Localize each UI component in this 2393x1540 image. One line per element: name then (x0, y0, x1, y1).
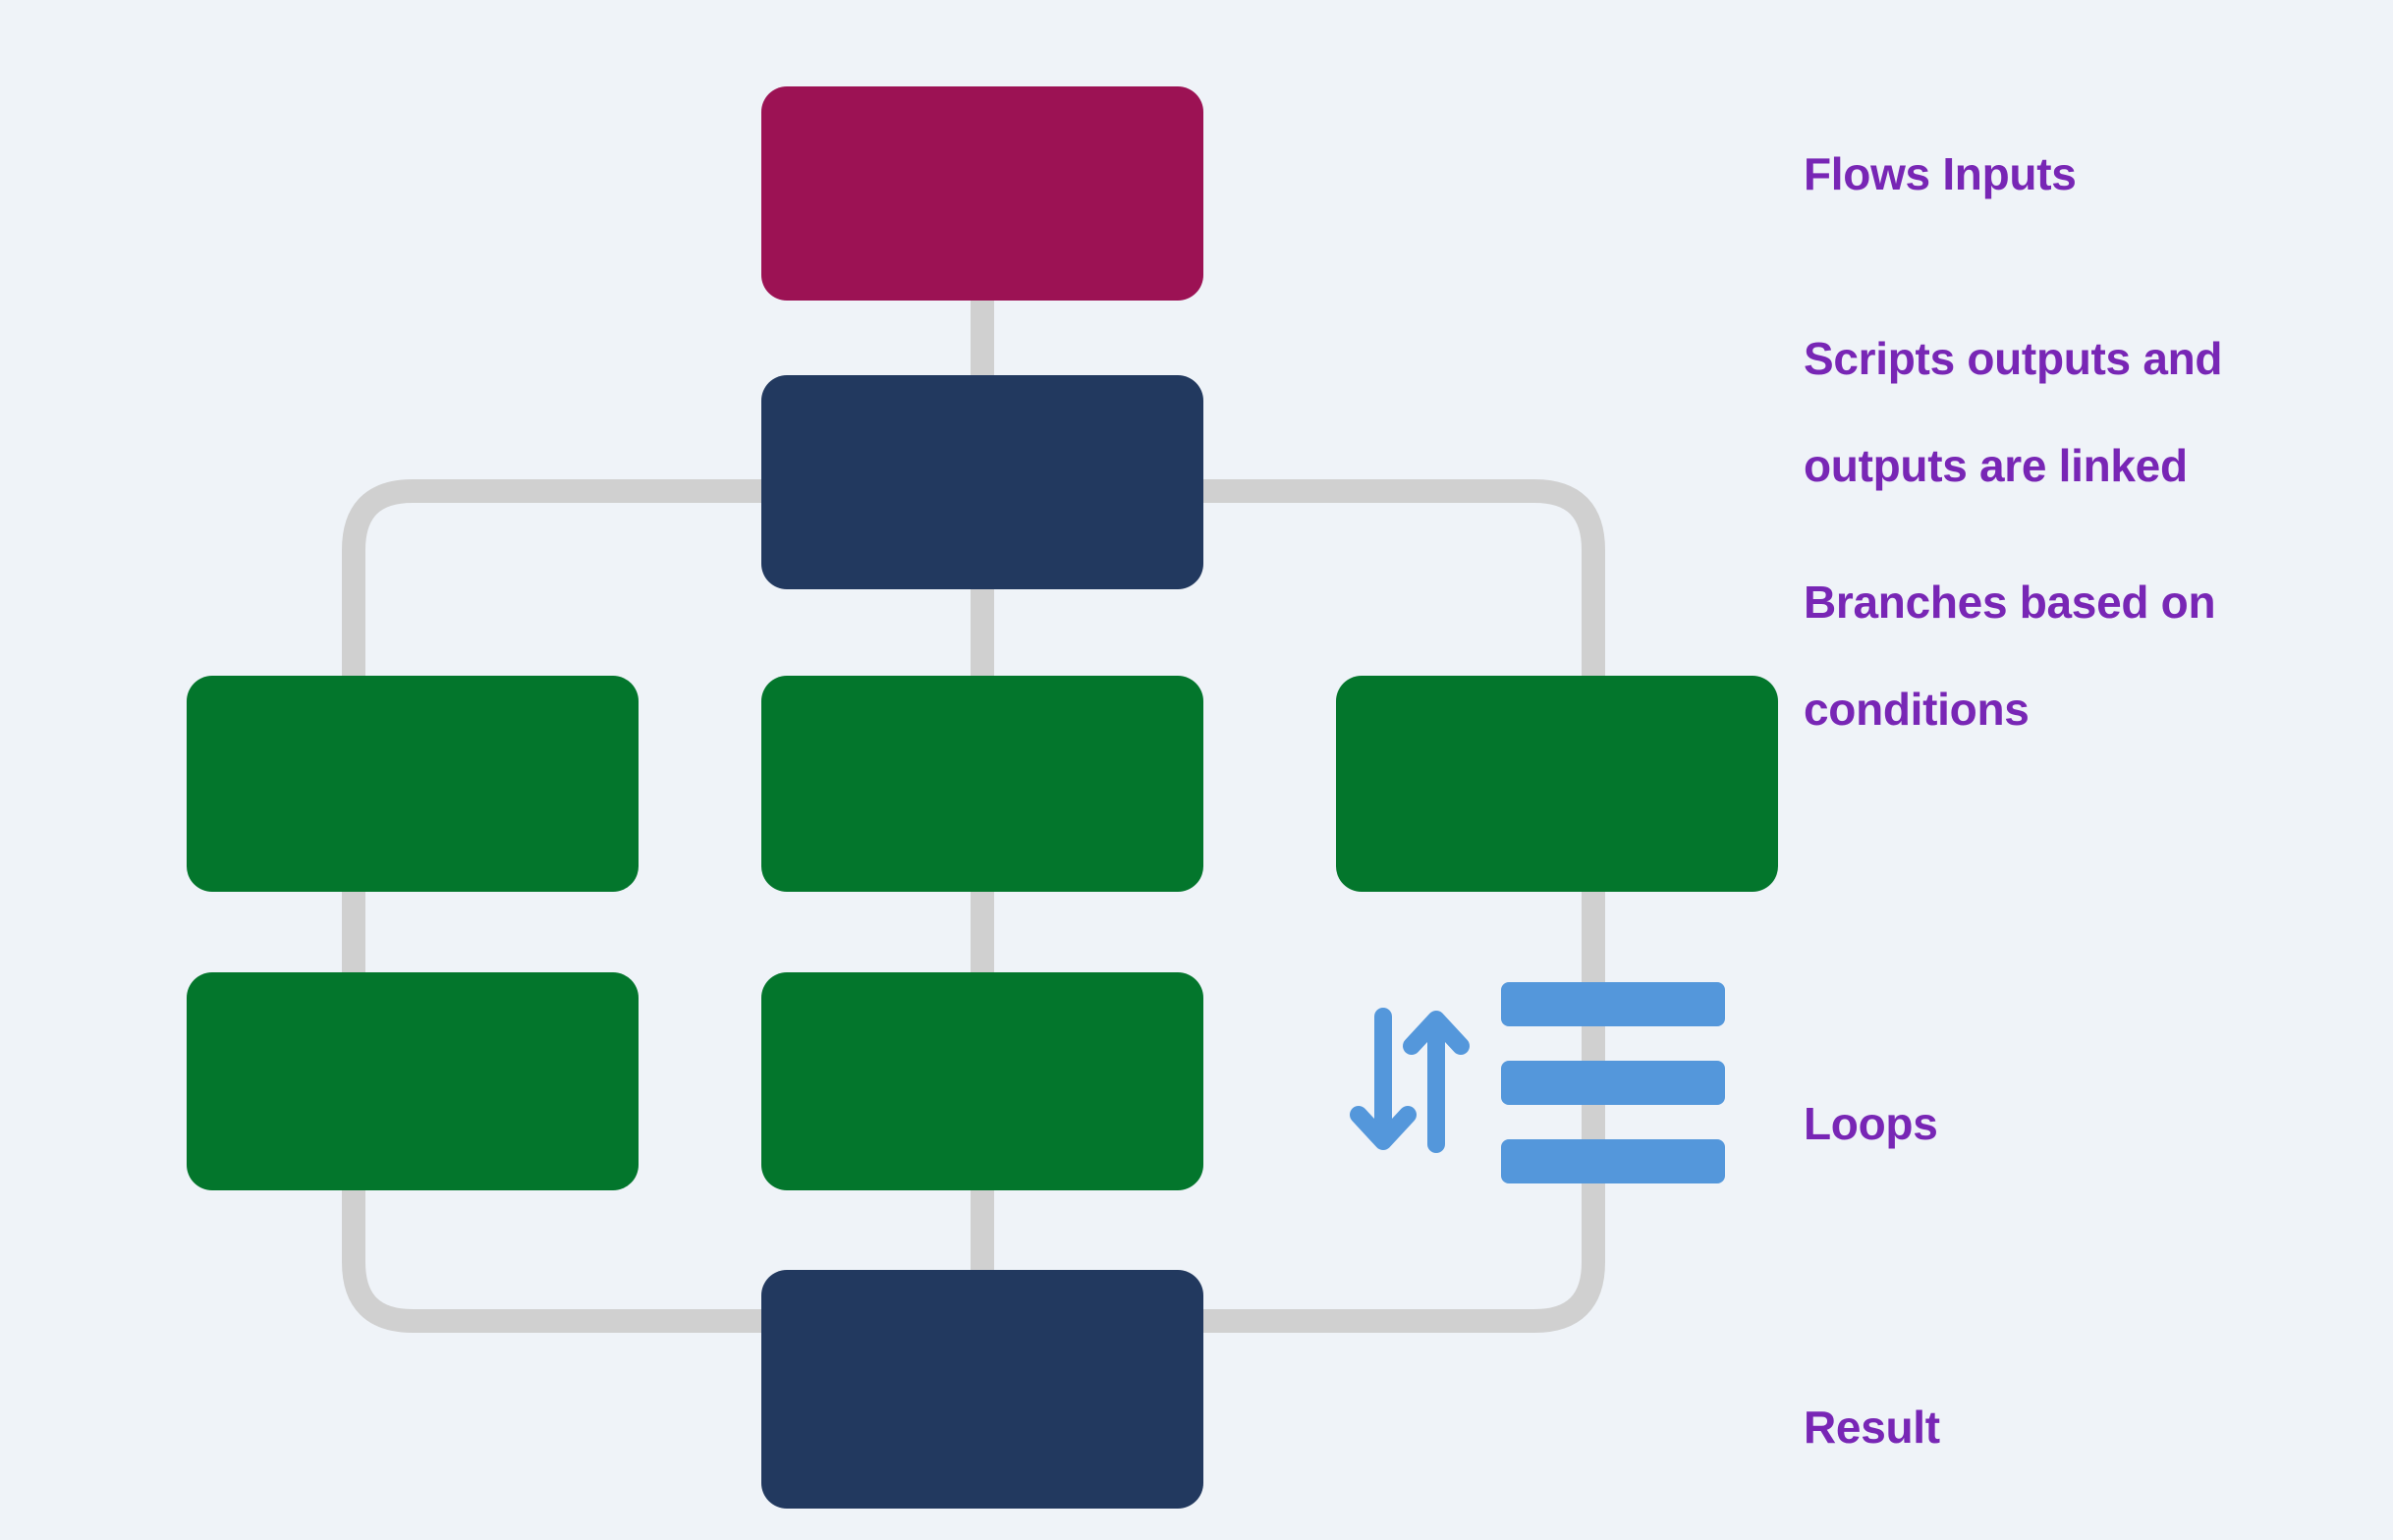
branch-node-right[interactable] (1336, 676, 1778, 892)
loop-bar-1 (1501, 982, 1725, 1026)
annotation-line: Result (1804, 1401, 1940, 1454)
annotation-line: Loops (1804, 1097, 1937, 1150)
step-node-left[interactable] (187, 972, 639, 1190)
annotation-scripts-outputs: Scripts outputs and outputs are linked (1804, 279, 2222, 545)
diagram-canvas: Flows Inputs Scripts outputs and outputs… (0, 0, 2393, 1540)
branch-node-left[interactable] (187, 676, 639, 892)
node-layer (187, 86, 1778, 1509)
annotation-line: Scripts outputs and (1804, 332, 2222, 385)
annotation-line: outputs are linked (1804, 439, 2222, 492)
loop-arrow-down-icon (1359, 1017, 1408, 1141)
loop-bar-2 (1501, 1061, 1725, 1105)
script-node[interactable] (761, 375, 1203, 589)
annotation-line: Branches based on (1804, 576, 2215, 629)
annotation-line: Flows Inputs (1804, 147, 2077, 200)
loop-arrow-up-icon (1412, 1019, 1461, 1144)
flow-input-node[interactable] (761, 86, 1203, 301)
branch-node-center[interactable] (761, 676, 1203, 892)
annotation-line: conditions (1804, 683, 2215, 736)
step-node-center[interactable] (761, 972, 1203, 1190)
annotation-loops: Loops (1804, 1044, 1937, 1204)
annotation-branches: Branches based on conditions (1804, 522, 2215, 789)
result-node[interactable] (761, 1270, 1203, 1509)
annotation-result: Result (1804, 1347, 1940, 1508)
annotation-flows-inputs: Flows Inputs (1804, 94, 2077, 254)
loops-icon (1359, 982, 1725, 1183)
loop-bar-3 (1501, 1139, 1725, 1183)
